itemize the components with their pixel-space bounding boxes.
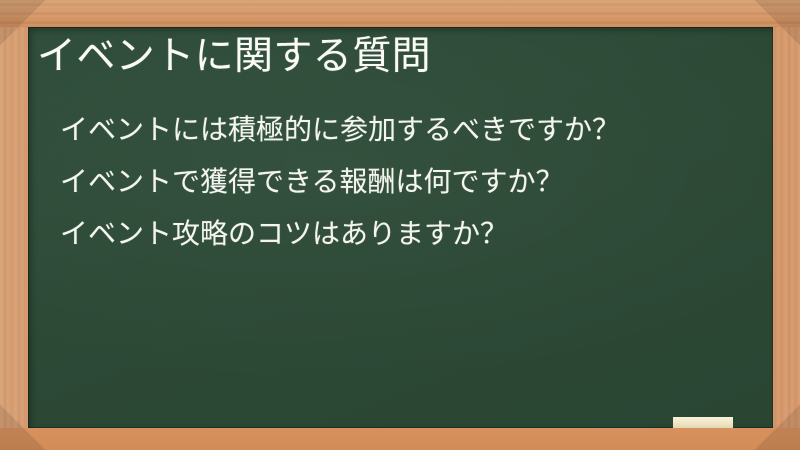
question-item: イベントには積極的に参加するべきですか？ [60,104,620,156]
chalk-stick-icon [673,417,733,428]
frame-top-rail [0,0,800,27]
question-item: イベントで獲得できる報酬は何ですか？ [60,156,620,208]
chalkboard-frame: イベントに関する質問 イベントには積極的に参加するべきですか？ イベントで獲得で… [0,0,800,450]
frame-bottom-rail [0,428,800,450]
question-list: イベントには積極的に参加するべきですか？ イベントで獲得できる報酬は何ですか？ … [60,104,620,260]
board-title: イベントに関する質問 [37,31,431,83]
chalkboard-surface: イベントに関する質問 イベントには積極的に参加するべきですか？ イベントで獲得で… [28,27,773,428]
chalkboard-content: イベントに関する質問 イベントには積極的に参加するべきですか？ イベントで獲得で… [28,27,773,428]
question-item: イベント攻略のコツはありますか？ [60,208,620,260]
